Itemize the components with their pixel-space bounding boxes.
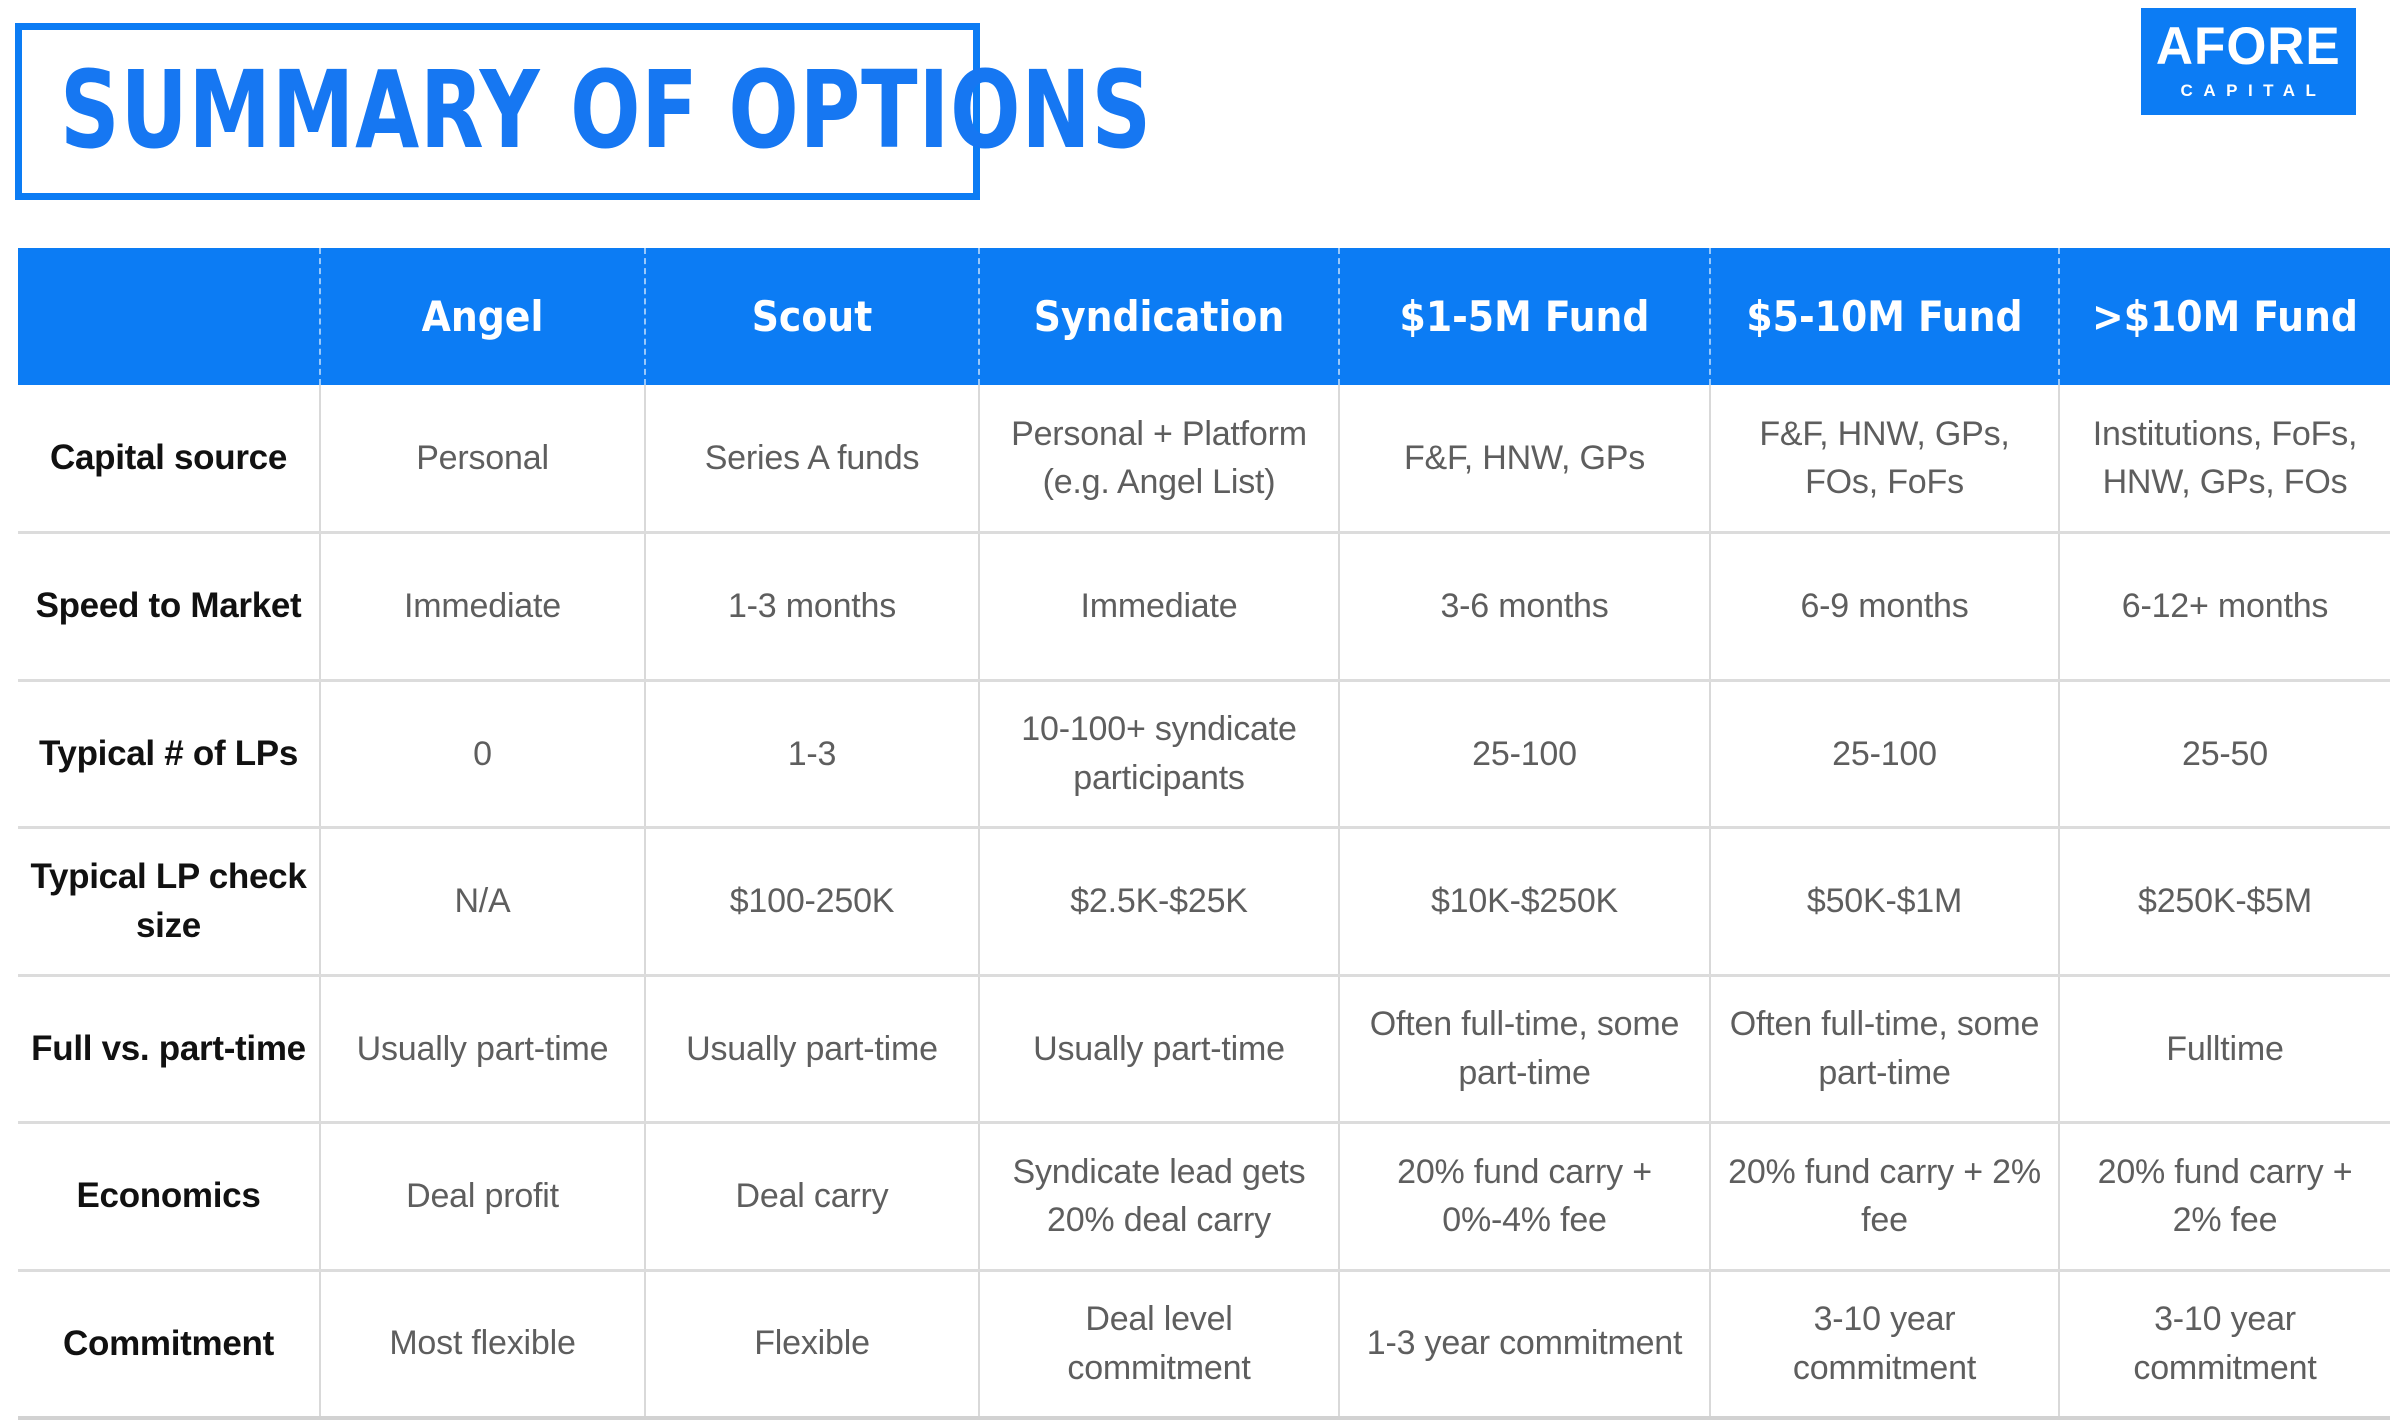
cell-full-part-scout: Usually part-time: [645, 975, 979, 1123]
cell-economics-scout: Deal carry: [645, 1123, 979, 1271]
cell-capital-source-fund-over-10m: Institutions, FoFs, HNW, GPs, FOs: [2059, 385, 2390, 533]
cell-check-size-syndication: $2.5K-$25K: [979, 828, 1339, 976]
cell-check-size-scout: $100-250K: [645, 828, 979, 976]
cell-full-part-syndication: Usually part-time: [979, 975, 1339, 1123]
table-row: Capital source Personal Series A funds P…: [18, 385, 2390, 533]
logo-wordmark: AFORE: [2156, 20, 2341, 73]
cell-check-size-fund-over-10m: $250K-$5M: [2059, 828, 2390, 976]
cell-capital-source-fund-1-5m: F&F, HNW, GPs: [1339, 385, 1710, 533]
cell-capital-source-syndication: Personal + Platform (e.g. Angel List): [979, 385, 1339, 533]
row-label-typical-number-of-lps: Typical # of LPs: [18, 680, 320, 828]
column-header-syndication: Syndication: [979, 248, 1339, 385]
cell-speed-fund-1-5m: 3-6 months: [1339, 533, 1710, 681]
cell-speed-angel: Immediate: [320, 533, 645, 681]
cell-commitment-syndication: Deal level commitment: [979, 1270, 1339, 1418]
row-label-economics: Economics: [18, 1123, 320, 1271]
cell-commitment-fund-over-10m: 3-10 year commitment: [2059, 1270, 2390, 1418]
cell-lps-fund-1-5m: 25-100: [1339, 680, 1710, 828]
cell-full-part-fund-5-10m: Often full-time, some part-time: [1710, 975, 2059, 1123]
page-title: SUMMARY OF OPTIONS: [60, 58, 1152, 165]
table-body: Capital source Personal Series A funds P…: [18, 385, 2390, 1418]
column-header-fund-1-5m: $1-5M Fund: [1339, 248, 1710, 385]
cell-lps-syndication: 10-100+ syndicate participants: [979, 680, 1339, 828]
row-label-commitment: Commitment: [18, 1270, 320, 1418]
table-header-corner: [18, 248, 320, 385]
slide-canvas: SUMMARY OF OPTIONS AFORE CAPITAL Angel S…: [0, 0, 2400, 1425]
cell-commitment-fund-5-10m: 3-10 year commitment: [1710, 1270, 2059, 1418]
cell-full-part-fund-over-10m: Fulltime: [2059, 975, 2390, 1123]
cell-full-part-fund-1-5m: Often full-time, some part-time: [1339, 975, 1710, 1123]
table-row: Economics Deal profit Deal carry Syndica…: [18, 1123, 2390, 1271]
table-row: Full vs. part-time Usually part-time Usu…: [18, 975, 2390, 1123]
cell-commitment-scout: Flexible: [645, 1270, 979, 1418]
cell-speed-fund-5-10m: 6-9 months: [1710, 533, 2059, 681]
cell-lps-angel: 0: [320, 680, 645, 828]
cell-economics-syndication: Syndicate lead gets 20% deal carry: [979, 1123, 1339, 1271]
table-row: Speed to Market Immediate 1-3 months Imm…: [18, 533, 2390, 681]
cell-check-size-fund-5-10m: $50K-$1M: [1710, 828, 2059, 976]
cell-lps-scout: 1-3: [645, 680, 979, 828]
cell-economics-angel: Deal profit: [320, 1123, 645, 1271]
column-header-fund-over-10m: >$10M Fund: [2059, 248, 2390, 385]
column-header-scout: Scout: [645, 248, 979, 385]
cell-economics-fund-1-5m: 20% fund carry + 0%-4% fee: [1339, 1123, 1710, 1271]
cell-capital-source-scout: Series A funds: [645, 385, 979, 533]
cell-lps-fund-over-10m: 25-50: [2059, 680, 2390, 828]
row-label-capital-source: Capital source: [18, 385, 320, 533]
cell-check-size-fund-1-5m: $10K-$250K: [1339, 828, 1710, 976]
cell-economics-fund-5-10m: 20% fund carry + 2% fee: [1710, 1123, 2059, 1271]
table-row: Typical LP check size N/A $100-250K $2.5…: [18, 828, 2390, 976]
cell-full-part-angel: Usually part-time: [320, 975, 645, 1123]
column-header-fund-5-10m: $5-10M Fund: [1710, 248, 2059, 385]
row-label-speed-to-market: Speed to Market: [18, 533, 320, 681]
slide-title-box: SUMMARY OF OPTIONS: [15, 23, 980, 200]
cell-speed-syndication: Immediate: [979, 533, 1339, 681]
cell-commitment-angel: Most flexible: [320, 1270, 645, 1418]
table-header: Angel Scout Syndication $1-5M Fund $5-10…: [18, 248, 2390, 385]
summary-of-options-table: Angel Scout Syndication $1-5M Fund $5-10…: [18, 248, 2390, 1420]
row-label-full-vs-part-time: Full vs. part-time: [18, 975, 320, 1123]
cell-speed-fund-over-10m: 6-12+ months: [2059, 533, 2390, 681]
cell-lps-fund-5-10m: 25-100: [1710, 680, 2059, 828]
cell-economics-fund-over-10m: 20% fund carry + 2% fee: [2059, 1123, 2390, 1271]
column-header-angel: Angel: [320, 248, 645, 385]
table-row: Typical # of LPs 0 1-3 10-100+ syndicate…: [18, 680, 2390, 828]
cell-capital-source-angel: Personal: [320, 385, 645, 533]
cell-check-size-angel: N/A: [320, 828, 645, 976]
summary-table-container: Angel Scout Syndication $1-5M Fund $5-10…: [18, 248, 2390, 1418]
table-row: Commitment Most flexible Flexible Deal l…: [18, 1270, 2390, 1418]
cell-speed-scout: 1-3 months: [645, 533, 979, 681]
afore-capital-logo: AFORE CAPITAL: [2141, 8, 2356, 115]
row-label-typical-lp-check-size: Typical LP check size: [18, 828, 320, 976]
logo-tagline: CAPITAL: [2181, 82, 2327, 99]
table-header-row: Angel Scout Syndication $1-5M Fund $5-10…: [18, 248, 2390, 385]
cell-commitment-fund-1-5m: 1-3 year commitment: [1339, 1270, 1710, 1418]
cell-capital-source-fund-5-10m: F&F, HNW, GPs, FOs, FoFs: [1710, 385, 2059, 533]
